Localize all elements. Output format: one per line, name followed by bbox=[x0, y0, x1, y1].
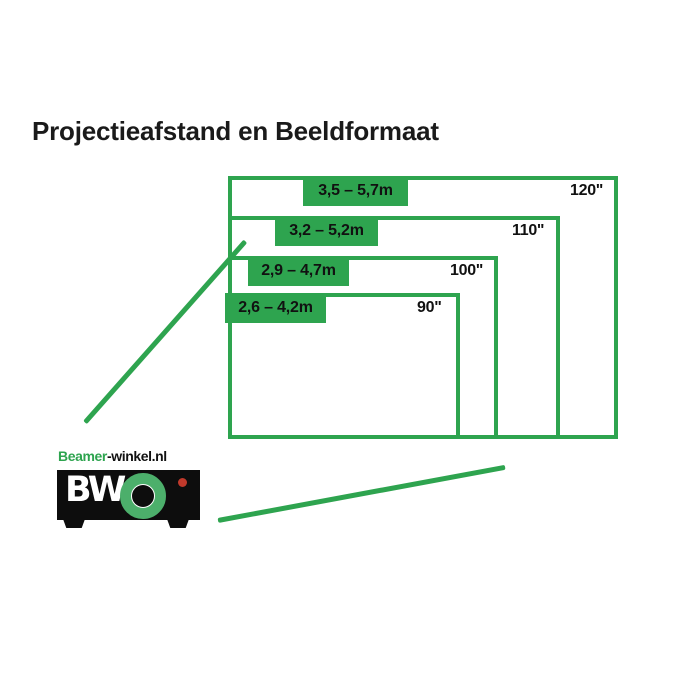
distance-tag-110: 3,2 – 5,2m bbox=[275, 216, 378, 246]
brand-logo[interactable]: Beamer-winkel.nl BW bbox=[55, 448, 203, 528]
projection-beam-upper bbox=[83, 240, 247, 425]
brand-wordmark-dark: -winkel.nl bbox=[107, 448, 167, 464]
screen-size-label-110: 110" bbox=[512, 222, 544, 240]
projector-foot-left-icon bbox=[63, 519, 85, 528]
distance-tag-100: 2,9 – 4,7m bbox=[248, 256, 349, 286]
brand-wordmark: Beamer-winkel.nl bbox=[58, 448, 167, 464]
screen-size-label-120: 120" bbox=[570, 182, 603, 200]
screen-size-label-100: 100" bbox=[450, 262, 483, 280]
projector-lens-core-icon bbox=[132, 485, 154, 507]
projection-distance-diagram: Projectieafstand en Beeldformaat 120" 11… bbox=[0, 0, 700, 700]
projection-beam-lower bbox=[218, 465, 506, 523]
brand-wordmark-green: Beamer bbox=[58, 448, 107, 464]
projector-indicator-icon bbox=[178, 478, 187, 487]
screen-size-label-90: 90" bbox=[417, 299, 441, 317]
distance-tag-90: 2,6 – 4,2m bbox=[225, 293, 326, 323]
projector-foot-right-icon bbox=[167, 519, 189, 528]
brand-monogram: BW bbox=[65, 473, 124, 508]
page-title: Projectieafstand en Beeldformaat bbox=[32, 116, 439, 147]
distance-tag-120: 3,5 – 5,7m bbox=[303, 176, 408, 206]
